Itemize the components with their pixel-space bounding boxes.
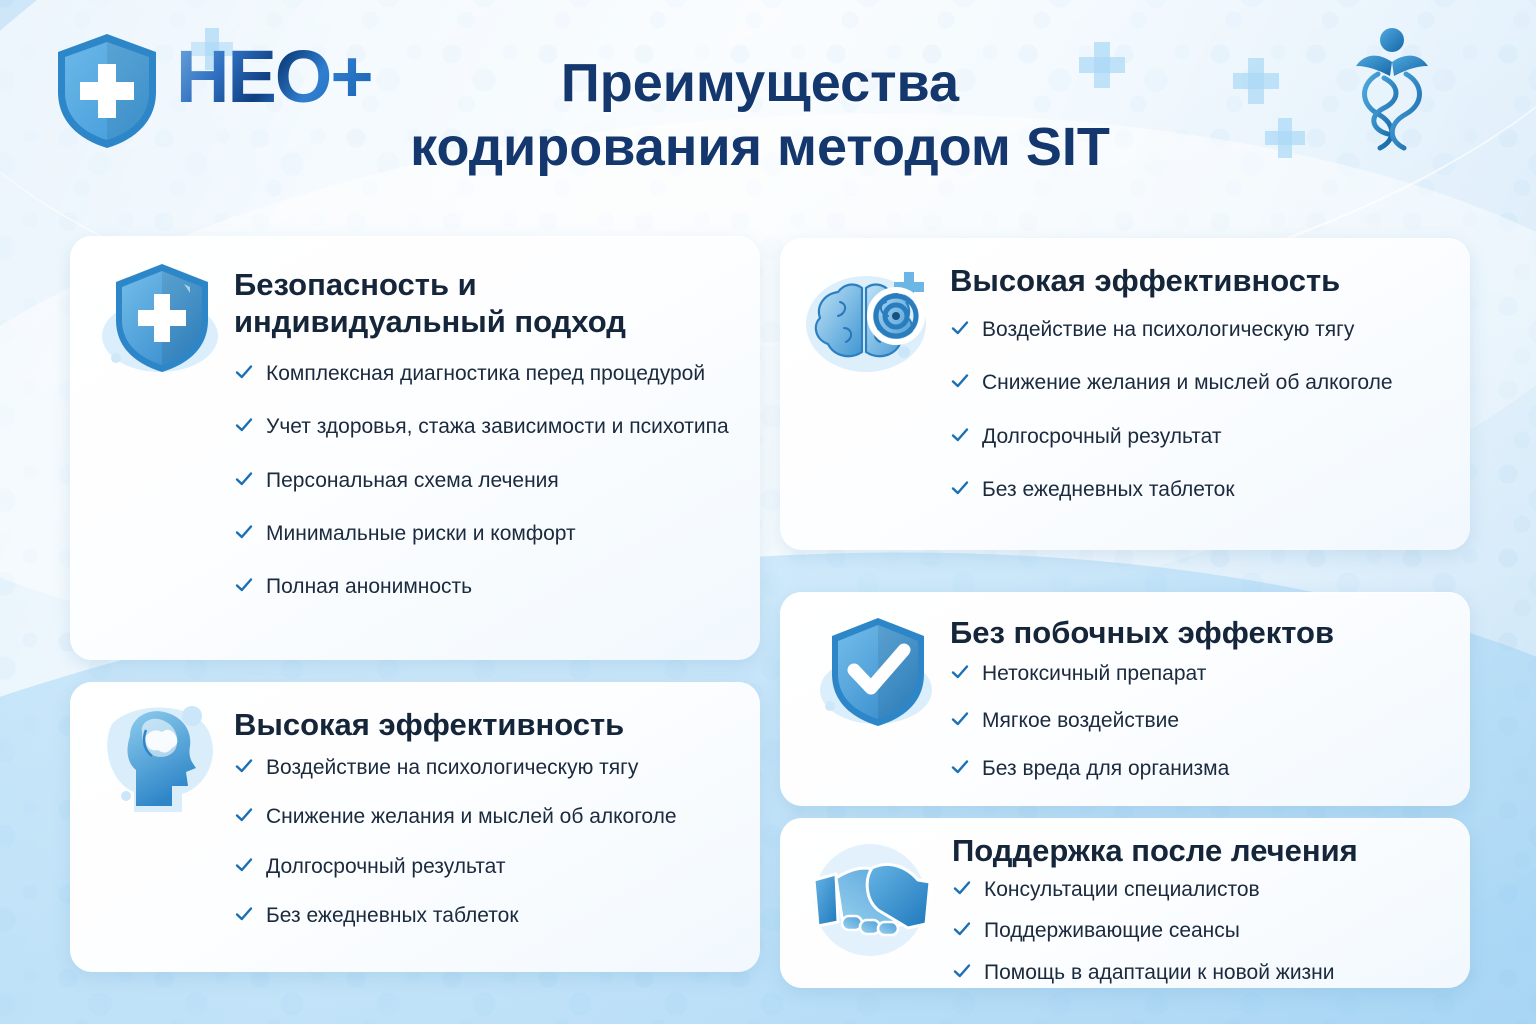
caduceus-icon [1348,22,1436,172]
infographic-canvas: НЕО+ Преимущества кодирования методом SI… [0,0,1536,1024]
list-item: Консультации специалистов [952,876,1452,903]
list-item: Полная анонимность [234,573,744,600]
list-item: Персональная схема лечения [234,467,744,494]
card-title: Без побочных эффектов [950,614,1450,651]
list-item-text: Учет здоровья, стажа зависимости и психо… [266,415,729,438]
check-icon [950,318,970,338]
list-item: Помощь в адаптации к новой жизни [952,959,1452,986]
list-item-text: Долгосрочный результат [982,425,1222,448]
check-icon [234,575,254,595]
card-list: Воздействие на психологическую тягу Сниж… [234,754,764,951]
list-item-text: Минимальные риски и комфорт [266,522,576,545]
page-title: Преимущества кодирования методом SIT [300,52,1220,179]
list-item: Без ежедневных таблеток [950,476,1450,503]
check-icon [952,878,972,898]
header: НЕО+ Преимущества кодирования методом SI… [0,0,1536,210]
card-safety: Безопасность и индивидуальный подход Ком… [70,236,760,660]
list-item-text: Нетоксичный препарат [982,662,1206,685]
list-item: Минимальные риски и комфорт [234,520,744,547]
list-item: Поддерживающие сеансы [952,917,1452,944]
check-icon [234,756,254,776]
card-title: Безопасность и индивидуальный подход [234,266,734,340]
list-item-text: Поддерживающие сеансы [984,919,1240,942]
list-item: Без вреда для организма [950,755,1450,782]
check-icon [952,961,972,981]
handshake-icon [808,838,936,962]
card-title: Высокая эффективность [234,706,734,743]
check-icon [952,919,972,939]
card-support: Поддержка после лечения Консультации спе… [780,818,1470,988]
page-title-line-2: кодирования методом SIT [300,116,1220,180]
check-icon [950,425,970,445]
list-item: Долгосрочный результат [234,853,764,880]
list-item: Нетоксичный препарат [950,660,1450,687]
check-icon [234,855,254,875]
check-icon [950,478,970,498]
check-icon [234,415,254,435]
list-item-text: Снижение желания и мыслей об алкоголе [266,805,677,828]
card-list: Консультации специалистов Поддерживающие… [952,876,1452,1000]
list-item: Воздействие на психологическую тягу [950,316,1450,343]
card-no-side-effects: Без побочных эффектов Нетоксичный препар… [780,592,1470,806]
check-icon [950,757,970,777]
card-title: Поддержка после лечения [952,832,1452,869]
check-icon [234,469,254,489]
check-icon [950,371,970,391]
list-item-text: Мягкое воздействие [982,709,1179,732]
list-item-text: Долгосрочный результат [266,855,506,878]
list-item-text: Воздействие на психологическую тягу [266,756,638,779]
shield-check-icon [816,610,940,734]
check-icon [234,904,254,924]
list-item: Мягкое воздействие [950,707,1450,734]
list-item: Воздействие на психологическую тягу [234,754,764,781]
list-item-text: Воздействие на психологическую тягу [982,318,1354,341]
list-item-text: Консультации специалистов [984,878,1260,901]
shield-cross-icon [52,30,162,150]
list-item: Учет здоровья, стажа зависимости и психо… [234,413,744,440]
card-list: Нетоксичный препарат Мягкое воздействие … [950,660,1450,802]
brain-target-icon [800,258,930,380]
list-item-text: Без ежедневных таблеток [982,478,1235,501]
card-title: Высокая эффективность [950,262,1450,299]
list-item-text: Персональная схема лечения [266,469,559,492]
list-item-text: Без ежедневных таблеток [266,904,519,927]
card-list: Комплексная диагностика перед процедурой… [234,360,744,626]
check-icon [234,362,254,382]
list-item: Без ежедневных таблеток [234,902,764,929]
card-effectiveness-right: Высокая эффективность Воздействие на пси… [780,238,1470,550]
list-item-text: Без вреда для организма [982,757,1229,780]
list-item: Снижение желания и мыслей об алкоголе [950,369,1450,396]
shield-cross-icon [98,254,226,382]
list-item-text: Полная анонимность [266,575,472,598]
list-item-text: Помощь в адаптации к новой жизни [984,961,1335,984]
head-brain-icon [96,696,224,824]
list-item: Долгосрочный результат [950,423,1450,450]
check-icon [950,662,970,682]
card-list: Воздействие на психологическую тягу Сниж… [950,316,1450,529]
list-item: Комплексная диагностика перед процедурой [234,360,744,387]
list-item-text: Комплексная диагностика перед процедурой [266,362,705,385]
check-icon [234,522,254,542]
list-item: Снижение желания и мыслей об алкоголе [234,803,764,830]
check-icon [950,709,970,729]
list-item-text: Снижение желания и мыслей об алкоголе [982,371,1393,394]
page-title-line-1: Преимущества [300,52,1220,116]
check-icon [234,805,254,825]
card-effectiveness-left: Высокая эффективность Воздействие на пси… [70,682,760,972]
